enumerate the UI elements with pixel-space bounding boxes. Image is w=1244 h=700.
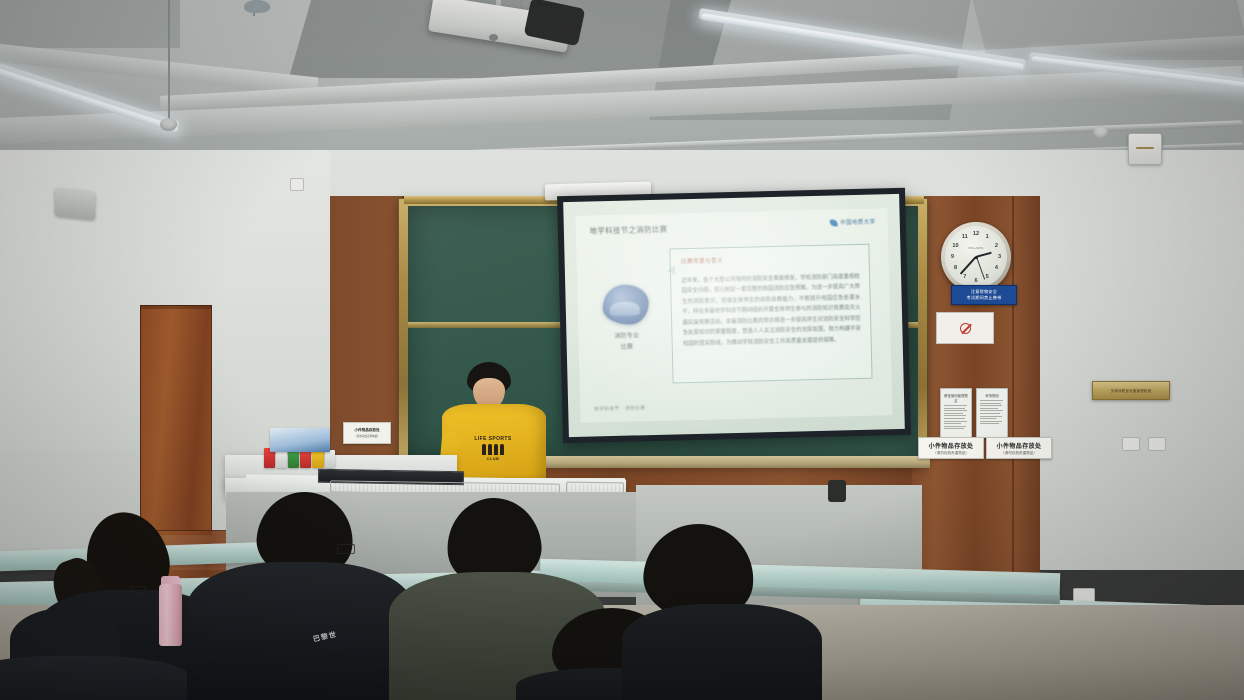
student-hoodie-body — [187, 562, 413, 700]
student-right-body — [622, 604, 822, 700]
caption-line-1: 消防专业 — [614, 332, 639, 343]
gold-plaque-text: 多媒体教室设备管理制度 — [1111, 388, 1152, 393]
storage-label-right-1-title: 小件物品存放处 — [929, 441, 974, 450]
slide-box-heading: 比赛背景与意义 — [681, 256, 723, 265]
storage-label-left-title: 小件物品存放处 — [354, 428, 379, 433]
classroom-door-left[interactable] — [140, 305, 212, 535]
slide-image-caption: 消防专业 比赛 — [614, 332, 639, 354]
wall-clock: POLARIS 12 1 2 3 4 5 6 7 8 9 10 11 — [941, 222, 1011, 292]
sweatshirt-text-line-2: CLUB — [487, 456, 500, 461]
sweatshirt-text-line-1: LIFE SPORTS — [474, 436, 511, 442]
alarm-bell-icon — [1093, 126, 1108, 139]
storage-label-left-sub: （请勿存放贵重物品） — [354, 434, 380, 438]
projection-screen: 地学科技节之消防比赛 中国地质大学 消防专业 比赛 比赛背景与意义 近年来，各个… — [563, 194, 905, 437]
clock-hour-hand — [976, 252, 992, 258]
notice-left: 教室使用管理规定 — [940, 388, 972, 438]
clock-brand: POLARIS — [968, 246, 983, 250]
storage-label-right-2-sub: （请勿存放贵重物品） — [1001, 451, 1037, 456]
wall-socket-right-b — [1148, 437, 1166, 451]
notice-left-lines — [944, 405, 968, 429]
presentation-slide: 地学科技节之消防比赛 中国地质大学 消防专业 比赛 比赛背景与意义 近年来，各个… — [575, 208, 892, 422]
clock-minute-hand — [960, 256, 977, 274]
water-bottle — [159, 584, 182, 646]
slide-text-box: 比赛背景与意义 近年来，各个大型公共场所的消防安全事故频发，学校消防部门高度重视… — [670, 244, 873, 383]
storage-label-right-2-title: 小件物品存放处 — [997, 441, 1042, 450]
gold-plaque-sign: 多媒体教室设备管理制度 — [1092, 381, 1170, 400]
smoke-detector-icon — [160, 118, 177, 131]
clock-center-pin — [975, 256, 978, 259]
classroom-scene: 多媒体教室设备管理制度 地学科技节之消防比赛 中国地质大学 消防专业 — [0, 0, 1244, 700]
notice-right-title: 考场规则 — [980, 393, 1004, 398]
blue-sign-line-2: 考试期间禁止携带 — [966, 295, 1001, 301]
student-hat-left — [0, 608, 170, 700]
slide-title: 地学科技节之消防比赛 — [590, 225, 668, 237]
wall-socket-left — [290, 178, 304, 191]
university-logo-text: 中国地质大学 — [840, 218, 876, 227]
mineral-rock-highlight — [610, 301, 640, 316]
slide-box-body: 近年来，各个大型公共场所的消防安全事故频发，学校消防部门高度重视校园安全问题，现… — [681, 272, 861, 350]
no-smoking-icon — [960, 323, 971, 334]
student-hoodie-glasses — [337, 544, 355, 554]
ceiling-speaker-icon — [244, 0, 270, 13]
clock-face: POLARIS 12 1 2 3 4 5 6 7 8 9 10 11 — [945, 226, 1007, 288]
student-right — [630, 524, 820, 700]
caption-line-2: 比赛 — [614, 342, 639, 353]
storage-label-right-1-sub: （请勿存放贵重物品） — [933, 451, 969, 456]
blue-warning-sign: 注意财物安全 考试期间禁止携带 — [951, 285, 1017, 305]
storage-label-right-1: 小件物品存放处 （请勿存放贵重物品） — [918, 437, 984, 459]
podium-poster — [270, 428, 330, 452]
storage-label-right-2: 小件物品存放处 （请勿存放贵重物品） — [986, 437, 1052, 459]
podium-item-box-6 — [325, 450, 335, 468]
wall-speaker-icon — [55, 188, 95, 220]
student-hoodie: 巴黎世 — [205, 492, 395, 700]
clock-second-hand — [976, 257, 985, 280]
university-logo-mark — [830, 219, 838, 226]
slide-illustration: 消防专业 比赛 — [589, 261, 664, 376]
cabinet-vent — [828, 480, 846, 502]
slide-footer: 地学科技节 · 消防比赛 — [594, 405, 646, 412]
sweatshirt-graphic: LIFE SPORTS CLUB — [464, 436, 522, 461]
storage-label-left: 小件物品存放处 （请勿存放贵重物品） — [343, 422, 391, 444]
notice-right-lines — [980, 400, 1004, 424]
university-logo: 中国地质大学 — [830, 218, 876, 227]
no-smoking-sign — [936, 312, 994, 344]
sweatshirt-figures — [482, 444, 504, 455]
wall-socket-right-a — [1122, 437, 1140, 451]
student-hat-left-body — [0, 656, 190, 700]
wall-control-box — [1128, 133, 1162, 165]
student-ponytail-glasses — [130, 586, 146, 595]
notice-left-title: 教室使用管理规定 — [944, 393, 968, 403]
notice-right: 考场规则 — [976, 388, 1008, 438]
